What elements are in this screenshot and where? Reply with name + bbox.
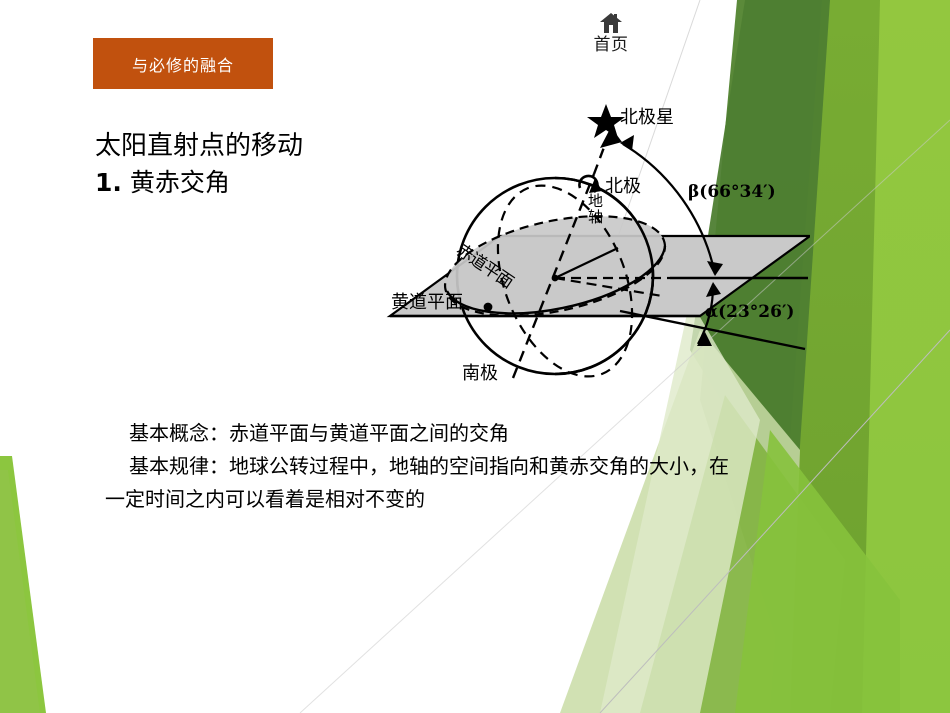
section-banner: 与必修的融合 — [93, 38, 273, 89]
deco-shape-left-triangle-2 — [0, 470, 40, 713]
label-south-pole: 南极 — [462, 359, 498, 385]
subtitle-number: 1. — [95, 168, 122, 197]
label-ecliptic-plane: 黄道平面 — [391, 288, 463, 314]
body-line-rule-2: 一定时间之内可以看着是相对不变的 — [105, 483, 865, 516]
body-line-rule-1: 基本规律：地球公转过程中，地轴的空间指向和黄赤交角的大小，在 — [105, 450, 865, 483]
alpha-arc-arrow-bottom — [697, 332, 712, 346]
body-line-concept: 基本概念：赤道平面与黄道平面之间的交角 — [105, 417, 865, 450]
body-text-block: 基本概念：赤道平面与黄道平面之间的交角 基本规律：地球公转过程中，地轴的空间指向… — [105, 417, 865, 516]
earth-axis-tilt-diagram: 北极星 北极 地轴 β(66°34′) α(23°26′) 赤道平面 黄道平面 … — [380, 96, 810, 406]
deco-shape-left-triangle — [0, 456, 46, 713]
label-alpha-angle: α(23°26′) — [705, 302, 794, 322]
home-nav-label: 首页 — [575, 35, 647, 55]
beta-arc-arrow-top — [620, 135, 634, 151]
home-icon — [599, 12, 623, 34]
subtitle-text: 黄赤交角 — [122, 168, 230, 197]
label-earth-axis: 地轴 — [588, 193, 603, 225]
diagram-drawing — [380, 96, 810, 406]
label-north-pole: 北极 — [605, 172, 641, 198]
deco-shape-bright-far-right — [845, 0, 950, 713]
label-polaris: 北极星 — [620, 103, 674, 129]
section-banner-label: 与必修的融合 — [132, 52, 234, 76]
label-beta-angle: β(66°34′) — [688, 182, 776, 202]
ecliptic-contact-point — [484, 303, 493, 312]
slide-canvas: 首页 与必修的融合 太阳直射点的移动 1. 黄赤交角 — [0, 0, 950, 713]
home-nav-button[interactable]: 首页 — [575, 12, 647, 55]
